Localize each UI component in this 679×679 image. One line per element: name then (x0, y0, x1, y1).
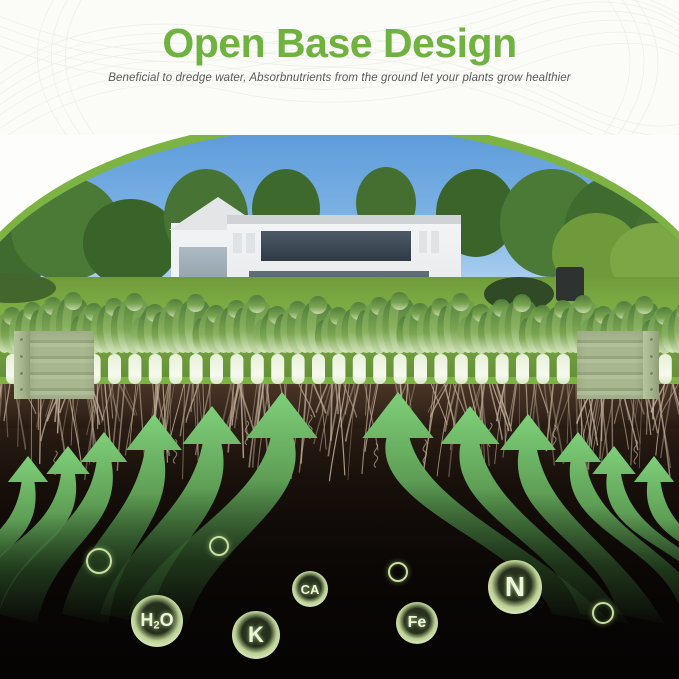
nutrient-badge-label: Fe (408, 614, 427, 632)
header: Open Base Design Beneficial to dredge wa… (0, 0, 679, 135)
nutrient-badge-ca: CA (292, 571, 328, 607)
scene-illustration: H2OKCAFeN (0, 118, 679, 679)
page-subtitle: Beneficial to dredge water, Absorbnutrie… (0, 72, 679, 84)
nutrient-badge-layer: H2OKCAFeN (0, 118, 679, 679)
nutrient-badge-k: K (232, 611, 280, 659)
nutrient-ring (86, 548, 112, 574)
nutrient-badge-label: H2O (140, 610, 173, 631)
nutrient-badge-n: N (488, 560, 542, 614)
nutrient-badge-label: N (505, 571, 525, 603)
nutrient-ring (592, 602, 614, 624)
nutrient-badge-h2o: H2O (131, 595, 183, 647)
nutrient-ring (209, 536, 229, 556)
nutrient-badge-label: K (248, 622, 264, 648)
page-title: Open Base Design (0, 20, 679, 67)
nutrient-badge-fe: Fe (396, 602, 438, 644)
product-infographic: H2OKCAFeN (0, 0, 679, 679)
nutrient-ring (388, 562, 408, 582)
nutrient-badge-label: CA (301, 582, 320, 597)
